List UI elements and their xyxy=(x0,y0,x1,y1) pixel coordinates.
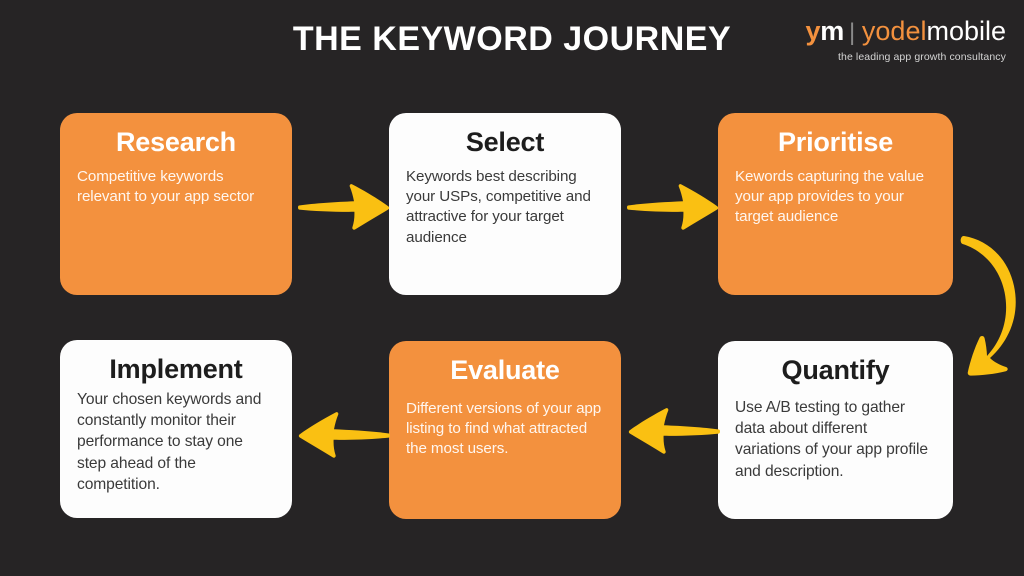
arrow-right-icon xyxy=(627,172,719,238)
logo-ym-m: m xyxy=(820,16,844,46)
step-body: Competitive keywords relevant to your ap… xyxy=(77,167,275,207)
logo-wordmark: ym|yodelmobile xyxy=(806,18,1006,45)
step-body: Keywords best describing your USPs, comp… xyxy=(406,167,604,248)
infographic-canvas: THE KEYWORD JOURNEY ym|yodelmobile the l… xyxy=(0,0,1024,576)
step-title: Quantify xyxy=(735,355,936,386)
step-title: Select xyxy=(406,127,604,158)
arrow-right-icon xyxy=(298,172,390,238)
step-card-research[interactable]: Research Competitive keywords relevant t… xyxy=(60,113,292,295)
logo-ym-y: y xyxy=(806,16,821,46)
arrow-curve-down-left-icon xyxy=(938,228,1024,378)
arrow-left-icon xyxy=(628,396,720,462)
step-body: Use A/B testing to gather data about dif… xyxy=(735,397,936,482)
step-body: Kewords capturing the value your app pro… xyxy=(735,167,936,228)
step-card-evaluate[interactable]: Evaluate Different versions of your app … xyxy=(389,341,621,519)
step-body: Your chosen keywords and constantly moni… xyxy=(77,389,275,495)
brand-logo: ym|yodelmobile the leading app growth co… xyxy=(806,18,1006,63)
step-card-implement[interactable]: Implement Your chosen keywords and const… xyxy=(60,340,292,518)
step-title: Prioritise xyxy=(735,127,936,158)
step-title: Evaluate xyxy=(406,355,604,386)
logo-tagline: the leading app growth consultancy xyxy=(806,52,1006,63)
step-title: Research xyxy=(77,127,275,158)
step-card-prioritise[interactable]: Prioritise Kewords capturing the value y… xyxy=(718,113,953,295)
logo-word-mobile: mobile xyxy=(926,16,1006,46)
arrow-left-icon xyxy=(298,400,390,466)
step-title: Implement xyxy=(77,354,275,385)
step-card-select[interactable]: Select Keywords best describing your USP… xyxy=(389,113,621,295)
step-body: Different versions of your app listing t… xyxy=(406,399,604,460)
step-card-quantify[interactable]: Quantify Use A/B testing to gather data … xyxy=(718,341,953,519)
logo-separator: | xyxy=(849,19,855,46)
logo-word-yodel: yodel xyxy=(862,16,927,46)
